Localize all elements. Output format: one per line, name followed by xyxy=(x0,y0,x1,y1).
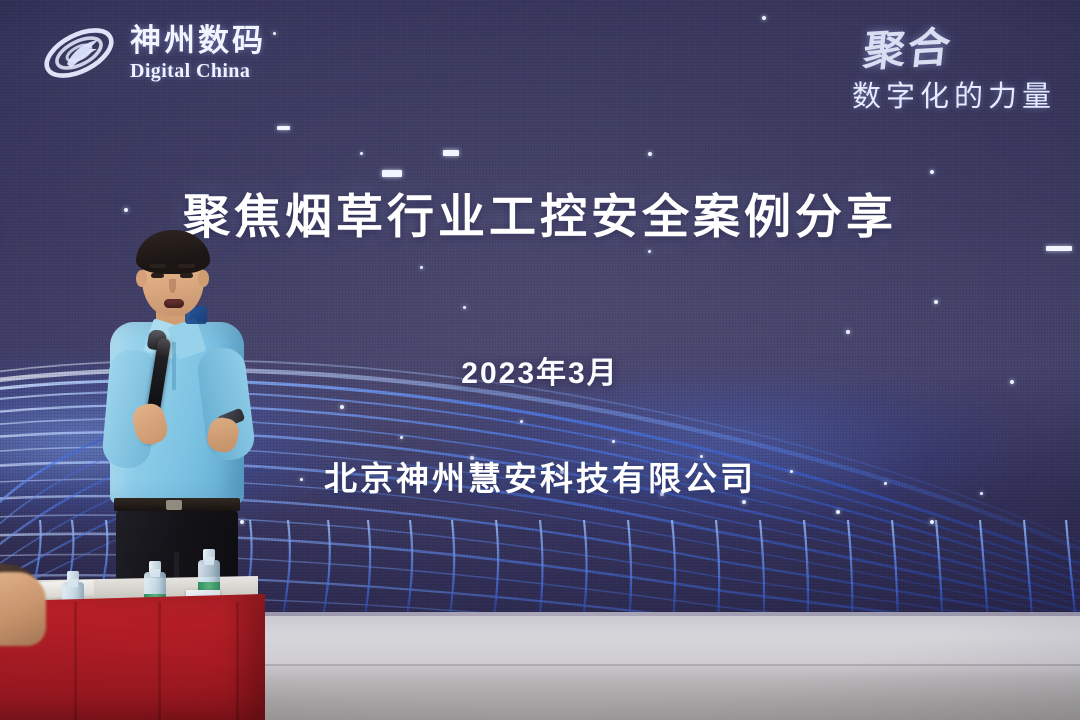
brand-name-en: Digital China xyxy=(130,61,266,81)
speaker-ear-left xyxy=(136,270,147,287)
digital-china-swirl-logo xyxy=(40,22,118,84)
bottle-neck xyxy=(204,557,214,565)
slogan-subtitle: 数字化的力量 xyxy=(852,73,1056,115)
speaker-ear-right xyxy=(198,270,209,287)
speaker-shirt-placket xyxy=(172,342,176,390)
conference-stage-photo: 神州数码 Digital China 聚合 数字化的力量 聚焦烟草行业工控安全案… xyxy=(0,0,1080,720)
speaker-belt-buckle xyxy=(166,500,182,510)
slogan-calligraphy: 聚合 xyxy=(848,13,955,79)
tablecloth-fold xyxy=(236,602,239,720)
speaker-eyebrow-left xyxy=(149,264,166,268)
speaker-mouth xyxy=(164,299,184,308)
speaker-eye-left xyxy=(151,273,164,278)
foreground-attendee xyxy=(0,572,46,646)
speaker-eye-right xyxy=(180,273,193,278)
digital-china-brand-lockup: 神州数码 Digital China xyxy=(40,22,266,84)
bottle-neck xyxy=(150,569,160,577)
bottle-neck xyxy=(68,579,78,587)
brand-name-cn: 神州数码 xyxy=(130,25,266,56)
speaker-hair xyxy=(136,230,210,274)
event-slogan: 聚合 数字化的力量 xyxy=(852,16,1056,115)
panel-table xyxy=(0,550,265,720)
speaker-nose xyxy=(169,279,176,293)
tablecloth-fold xyxy=(158,602,161,720)
tablecloth-fold xyxy=(74,602,77,720)
speaker-eyebrow-right xyxy=(178,264,195,268)
